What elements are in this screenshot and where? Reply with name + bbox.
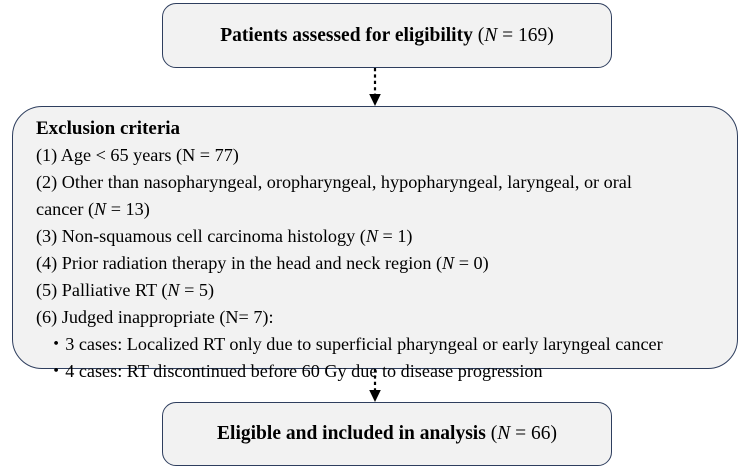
exclusion-criterion-2: (2) Other than nasopharyngeal, oropharyn… [25, 169, 725, 196]
node-included-count-var: N [497, 423, 510, 444]
node-exclusion-criteria: Exclusion criteria (1) Age < 65 years (N… [12, 106, 738, 369]
node-eligibility-count-var: N [484, 25, 497, 46]
arrow-down-icon [363, 68, 387, 106]
node-eligibility-count-eq: = [497, 25, 518, 46]
exclusion-criterion-5: (5) Palliative RT (N = 5) [25, 277, 725, 304]
node-included-text: Eligible and included in analysis (N = 6… [217, 422, 557, 445]
exclusion-criterion-3: (3) Non-squamous cell carcinoma histolog… [25, 223, 725, 250]
node-eligibility-text: Patients assessed for eligibility (N = 1… [220, 24, 553, 47]
exclusion-criterion-1: (1) Age < 65 years (N = 77) [25, 142, 725, 169]
node-included-label: Eligible and included in analysis [217, 423, 486, 444]
node-eligible-and-included-in-analysis: Eligible and included in analysis (N = 6… [162, 402, 612, 466]
node-eligibility-count-suffix: ) [547, 25, 554, 46]
exclusion-criteria-heading: Exclusion criteria [25, 116, 725, 142]
node-included-count-suffix: ) [550, 423, 557, 444]
node-included-count-eq: = [510, 423, 531, 444]
node-patients-assessed-for-eligibility: Patients assessed for eligibility (N = 1… [162, 3, 612, 68]
exclusion-criterion-6-subitem-1: ・3 cases: Localized RT only due to super… [25, 331, 725, 358]
exclusion-criterion-2-continued: cancer (N = 13) [25, 196, 725, 223]
exclusion-criterion-4: (4) Prior radiation therapy in the head … [25, 250, 725, 277]
connector-exclusion-to-included-arrow [363, 369, 387, 402]
node-eligibility-label: Patients assessed for eligibility [220, 25, 473, 46]
node-eligibility-count-value: 169 [518, 25, 547, 46]
node-included-count-value: 66 [531, 423, 551, 444]
exclusion-criterion-6: (6) Judged inappropriate (N= 7): [25, 304, 725, 331]
arrow-down-icon [363, 369, 387, 402]
flowchart-diagram: Patients assessed for eligibility (N = 1… [0, 0, 750, 474]
connector-eligibility-to-exclusion-arrow [363, 68, 387, 106]
